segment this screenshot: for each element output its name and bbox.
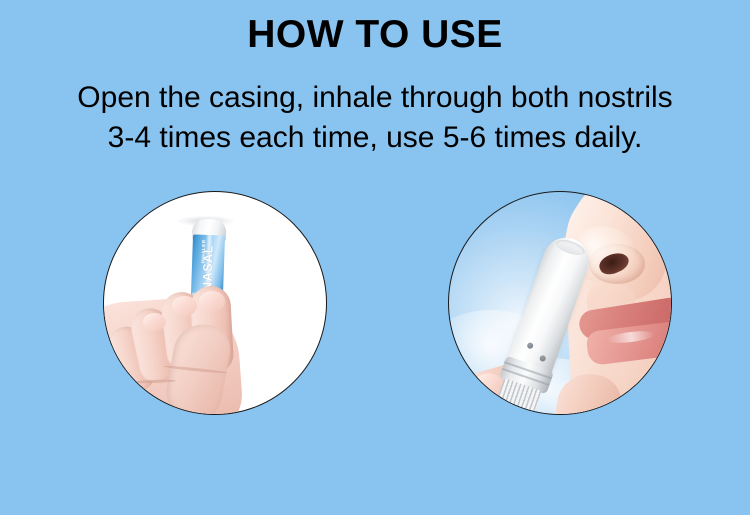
how-to-use-poster: HOW TO USE Open the casing, inhale throu… [0, 0, 750, 515]
fingernail-index [199, 291, 225, 312]
photo-inhaling-at-nostril [448, 191, 672, 415]
hand-left [104, 192, 326, 414]
instructions-text: Open the casing, inhale through both nos… [0, 78, 750, 158]
page-title: HOW TO USE [0, 12, 750, 58]
instruction-line-1: Open the casing, inhale through both nos… [0, 78, 750, 118]
left-scene: NASAL INHALER [104, 192, 326, 414]
fingernail-middle [172, 296, 197, 316]
instruction-line-2: 3-4 times each time, use 5-6 times daily… [0, 118, 750, 158]
photo-hand-holding-inhaler: NASAL INHALER [103, 191, 327, 415]
right-scene [449, 192, 671, 414]
fingernail-ring [143, 313, 166, 331]
